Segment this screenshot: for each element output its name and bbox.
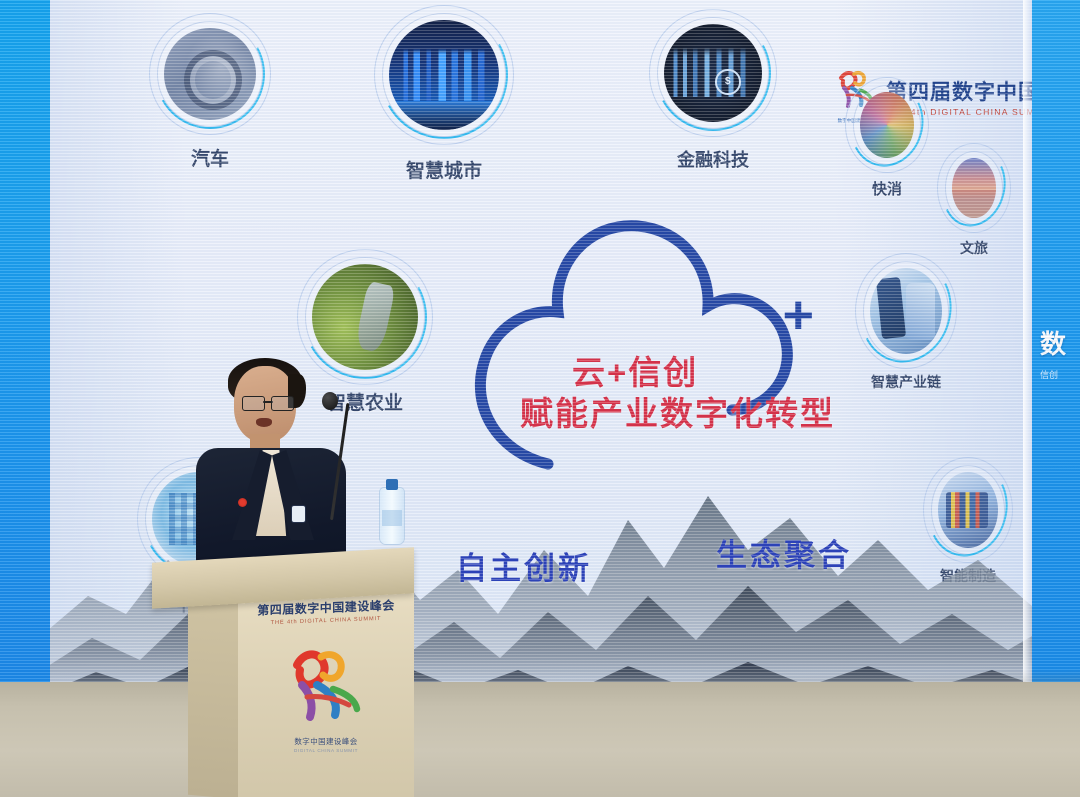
- podium: 第四届数字中国建设峰会 THE 4th DIGITAL CHINA SUMMIT…: [152, 527, 414, 797]
- speaker-glasses-icon: [242, 396, 294, 409]
- circle-item-culture-tourism: 文旅: [946, 152, 1002, 224]
- podium-logo-sub-en: DIGITAL CHINA SUMMIT: [274, 748, 378, 753]
- slogan-block: 云+信创 赋能产业数字化转型: [572, 352, 835, 435]
- right-panel-subtitle: 信创: [1040, 368, 1058, 381]
- shu-calligraphy-icon: [283, 645, 369, 727]
- circle-label: 智慧城市: [406, 156, 482, 183]
- thumb-smart-industry-chain-icon: [870, 268, 942, 354]
- circle-ring: [864, 262, 948, 360]
- circle-ring: [932, 466, 1004, 554]
- cloud-graphic: +: [452, 196, 812, 506]
- thumb-smart-agriculture-icon: [312, 264, 418, 370]
- circle-ring: [854, 86, 920, 164]
- keyword-ecosystem-aggregation: 生态聚合: [716, 530, 852, 575]
- speaker-lapel-pin: [238, 498, 247, 507]
- right-blue-panel: 数 信创: [1032, 0, 1080, 700]
- thumb-culture-tourism-icon: [952, 158, 996, 218]
- dollar-coin-icon: $: [715, 69, 741, 95]
- circle-item-smart-manufacturing: 智能制造: [932, 466, 1004, 554]
- thumb-automotive-icon: [164, 28, 256, 120]
- thumb-smart-city-icon: [389, 20, 499, 130]
- plus-symbol: +: [782, 288, 814, 342]
- circle-label: 快消: [872, 178, 902, 199]
- podium-side: [188, 591, 240, 797]
- presentation-scene: 数字中国建设峰会 第四届数字中国建设峰会 THE 4th DIGITAL CHI…: [0, 0, 1080, 797]
- cloud-outline-icon: [452, 196, 812, 506]
- speaker-name-badge: [292, 506, 305, 522]
- podium-logo: 数字中国建设峰会 DIGITAL CHINA SUMMIT: [274, 645, 378, 753]
- microphone-head-icon: [322, 392, 338, 410]
- circle-item-smart-industry-chain: 智慧产业链: [864, 262, 948, 360]
- circle-label: 金融科技: [677, 146, 749, 172]
- circle-ring: [383, 14, 505, 136]
- circle-item-fintech: $ 金融科技: [658, 18, 768, 128]
- circle-label: 文旅: [960, 238, 988, 258]
- circle-item-qiche: 汽车: [158, 22, 262, 126]
- thumb-fintech-icon: $: [664, 24, 762, 122]
- thumb-fmcg-icon: [860, 92, 914, 158]
- wall-right-edge: [1023, 0, 1032, 700]
- circle-label: 智慧产业链: [871, 372, 941, 392]
- circle-ring: [158, 22, 262, 126]
- circle-label: 汽车: [191, 144, 229, 171]
- left-blue-panel: [0, 0, 50, 735]
- podium-logo-sub-cn: 数字中国建设峰会: [274, 736, 378, 747]
- speaker-mouth: [256, 418, 272, 427]
- slogan-line-1: 云+信创: [572, 352, 835, 393]
- circle-item-fmcg: 快消: [854, 86, 920, 164]
- slogan-line-2: 赋能产业数字化转型: [520, 393, 835, 434]
- circle-item-smart-city: 智慧城市: [383, 14, 505, 136]
- circle-label: 智能制造: [940, 566, 996, 586]
- circle-ring: $: [658, 18, 768, 128]
- circle-ring: [946, 152, 1002, 224]
- right-panel-title: 数: [1040, 330, 1066, 359]
- thumb-smart-manufacturing-icon: [938, 472, 998, 548]
- keyword-independent-innovation: 自主创新: [456, 543, 592, 588]
